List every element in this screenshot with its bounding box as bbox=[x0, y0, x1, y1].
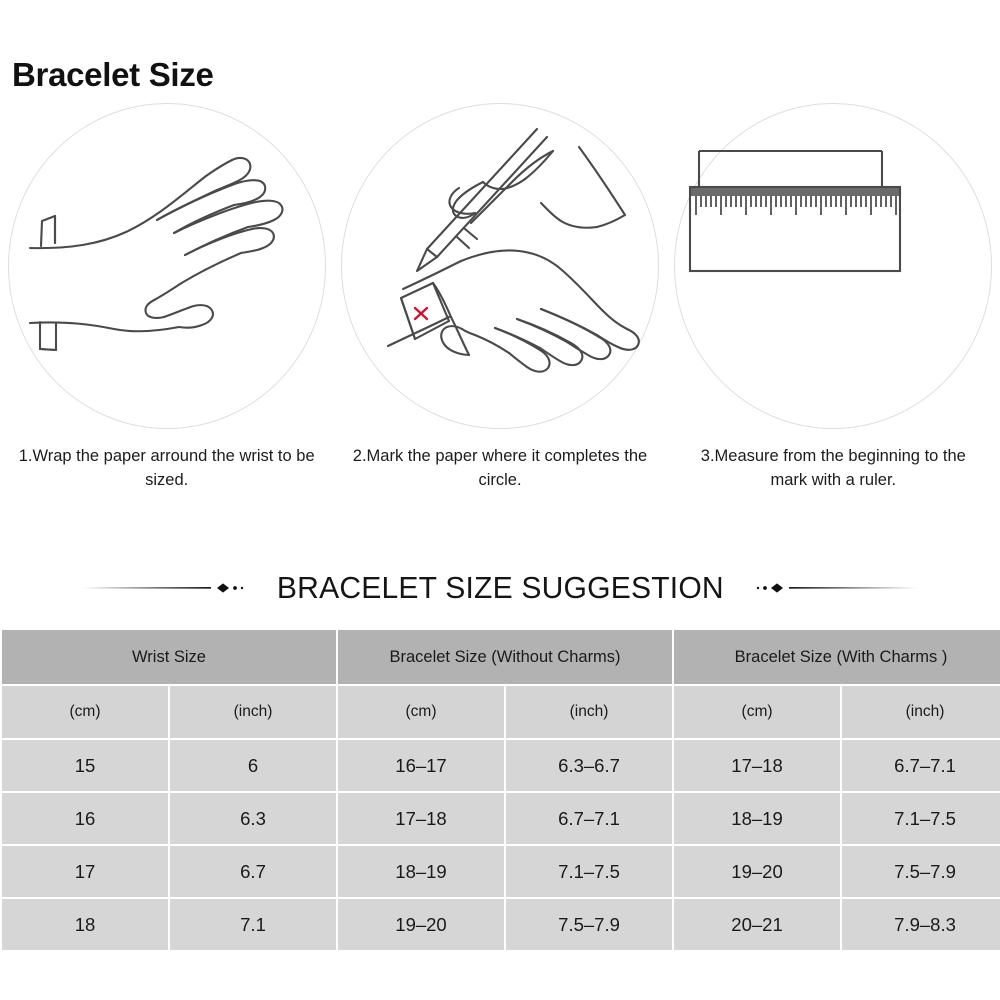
group-header-with-charms: Bracelet Size (With Charms ) bbox=[674, 630, 1000, 684]
section-heading: BRACELET SIZE SUGGESTION bbox=[0, 562, 1000, 614]
step-2-caption: 2.Mark the paper where it completes the … bbox=[333, 445, 666, 493]
table-cell: 6.7–7.1 bbox=[842, 740, 1000, 791]
table-cell: 19–20 bbox=[338, 899, 504, 950]
steps-row: 1.Wrap the paper arround the wrist to be… bbox=[0, 100, 1000, 500]
table-row: 16 6.3 17–18 6.7–7.1 18–19 7.1–7.5 bbox=[2, 793, 1000, 844]
table-cell: 18–19 bbox=[338, 846, 504, 897]
ornament-right-icon bbox=[752, 581, 917, 595]
table-cell: 17–18 bbox=[338, 793, 504, 844]
unit-cell: (cm) bbox=[674, 686, 840, 738]
table-cell: 6 bbox=[170, 740, 336, 791]
hand-wrapped-paper-icon bbox=[8, 103, 326, 429]
table-cell: 16–17 bbox=[338, 740, 504, 791]
table-cell: 18–19 bbox=[674, 793, 840, 844]
section-title: BRACELET SIZE SUGGESTION bbox=[255, 570, 745, 606]
table-cell: 18 bbox=[2, 899, 168, 950]
unit-cell: (inch) bbox=[506, 686, 672, 738]
table-cell: 17 bbox=[2, 846, 168, 897]
table-cell: 7.9–8.3 bbox=[842, 899, 1000, 950]
table-row: 17 6.7 18–19 7.1–7.5 19–20 7.5–7.9 bbox=[2, 846, 1000, 897]
table-cell: 19–20 bbox=[674, 846, 840, 897]
table-cell: 7.1–7.5 bbox=[842, 793, 1000, 844]
table-row: 15 6 16–17 6.3–6.7 17–18 6.7–7.1 bbox=[2, 740, 1000, 791]
table-group-header-row: Wrist Size Bracelet Size (Without Charms… bbox=[2, 630, 1000, 684]
table-cell: 7.1–7.5 bbox=[506, 846, 672, 897]
table-cell: 6.7–7.1 bbox=[506, 793, 672, 844]
table-cell: 20–21 bbox=[674, 899, 840, 950]
step-3-caption: 3.Measure from the beginning to the mark… bbox=[667, 445, 1000, 493]
unit-cell: (inch) bbox=[170, 686, 336, 738]
table-cell: 15 bbox=[2, 740, 168, 791]
red-mark bbox=[415, 308, 427, 319]
table-row: 18 7.1 19–20 7.5–7.9 20–21 7.9–8.3 bbox=[2, 899, 1000, 950]
table-cell: 7.5–7.9 bbox=[506, 899, 672, 950]
table-cell: 6.7 bbox=[170, 846, 336, 897]
table-cell: 6.3 bbox=[170, 793, 336, 844]
unit-cell: (cm) bbox=[2, 686, 168, 738]
table-unit-row: (cm) (inch) (cm) (inch) (cm) (inch) bbox=[2, 686, 1000, 738]
ornament-left-icon bbox=[83, 581, 248, 595]
bracelet-size-table: Wrist Size Bracelet Size (Without Charms… bbox=[0, 628, 1000, 952]
unit-cell: (inch) bbox=[842, 686, 1000, 738]
step-1: 1.Wrap the paper arround the wrist to be… bbox=[0, 100, 333, 500]
table-cell: 7.1 bbox=[170, 899, 336, 950]
group-header-wrist-size: Wrist Size bbox=[2, 630, 336, 684]
table-cell: 17–18 bbox=[674, 740, 840, 791]
ruler-measuring-strip-icon bbox=[674, 103, 992, 429]
group-header-without-charms: Bracelet Size (Without Charms) bbox=[338, 630, 672, 684]
step-2: 2.Mark the paper where it completes the … bbox=[333, 100, 666, 500]
unit-cell: (cm) bbox=[338, 686, 504, 738]
table-cell: 7.5–7.9 bbox=[842, 846, 1000, 897]
page-title: Bracelet Size bbox=[12, 58, 214, 91]
table-cell: 6.3–6.7 bbox=[506, 740, 672, 791]
step-3: 3.Measure from the beginning to the mark… bbox=[667, 100, 1000, 500]
step-1-caption: 1.Wrap the paper arround the wrist to be… bbox=[0, 445, 333, 493]
hand-marking-pen-icon bbox=[341, 103, 659, 429]
table-cell: 16 bbox=[2, 793, 168, 844]
